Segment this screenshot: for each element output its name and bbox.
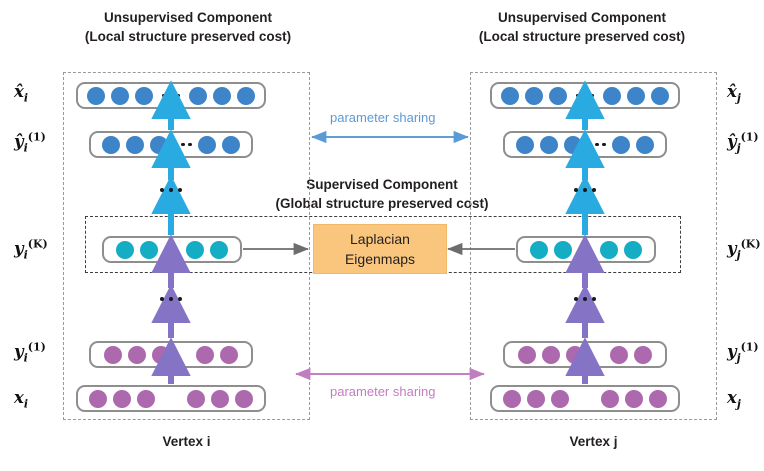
label-y-j-K: yj(K) [727,238,761,260]
figure-canvas: Unsupervised Component (Local structure … [0,0,764,471]
parameter-sharing-label-bottom: parameter sharing [330,384,436,399]
label-y-hat-j-1-text: ŷj(1) [727,132,759,151]
laplacian-line1: Laplacian [345,229,415,249]
label-x-i: xi [14,390,28,409]
label-y-i-1: yi(1) [14,341,46,363]
label-x-j: xj [727,390,741,409]
label-x-hat-i-text: x̂i [14,82,28,101]
vertical-ellipsis-lower-i [153,292,189,306]
label-y-j-1: yj(1) [727,341,759,363]
label-y-j-K-text: yj(K) [727,239,761,258]
label-y-hat-i-1: ŷi(1) [14,131,46,153]
label-y-j-1-text: yj(1) [727,342,759,361]
laplacian-eigenmaps-box: Laplacian Eigenmaps [313,224,447,274]
label-y-hat-i-1-text: ŷi(1) [14,132,46,151]
vertex-j-caption: Vertex j [470,434,717,449]
vertex-i-caption: Vertex i [63,434,310,449]
label-y-i-K-text: yi(K) [14,239,48,258]
vertical-ellipsis-lower-j [567,292,603,306]
label-y-i-1-text: yi(1) [14,342,46,361]
label-y-i-K: yi(K) [14,238,48,260]
label-x-hat-i: x̂i [14,84,28,103]
vertical-ellipsis-upper-i [153,183,189,197]
label-x-hat-j-text: x̂j [727,82,741,101]
label-x-j-text: xj [727,388,741,407]
laplacian-line2: Eigenmaps [345,249,415,269]
label-x-i-text: xi [14,388,28,407]
vertical-ellipsis-upper-j [567,183,603,197]
parameter-sharing-label-top: parameter sharing [330,110,436,125]
label-x-hat-j: x̂j [727,84,741,103]
label-y-hat-j-1: ŷj(1) [727,131,759,153]
